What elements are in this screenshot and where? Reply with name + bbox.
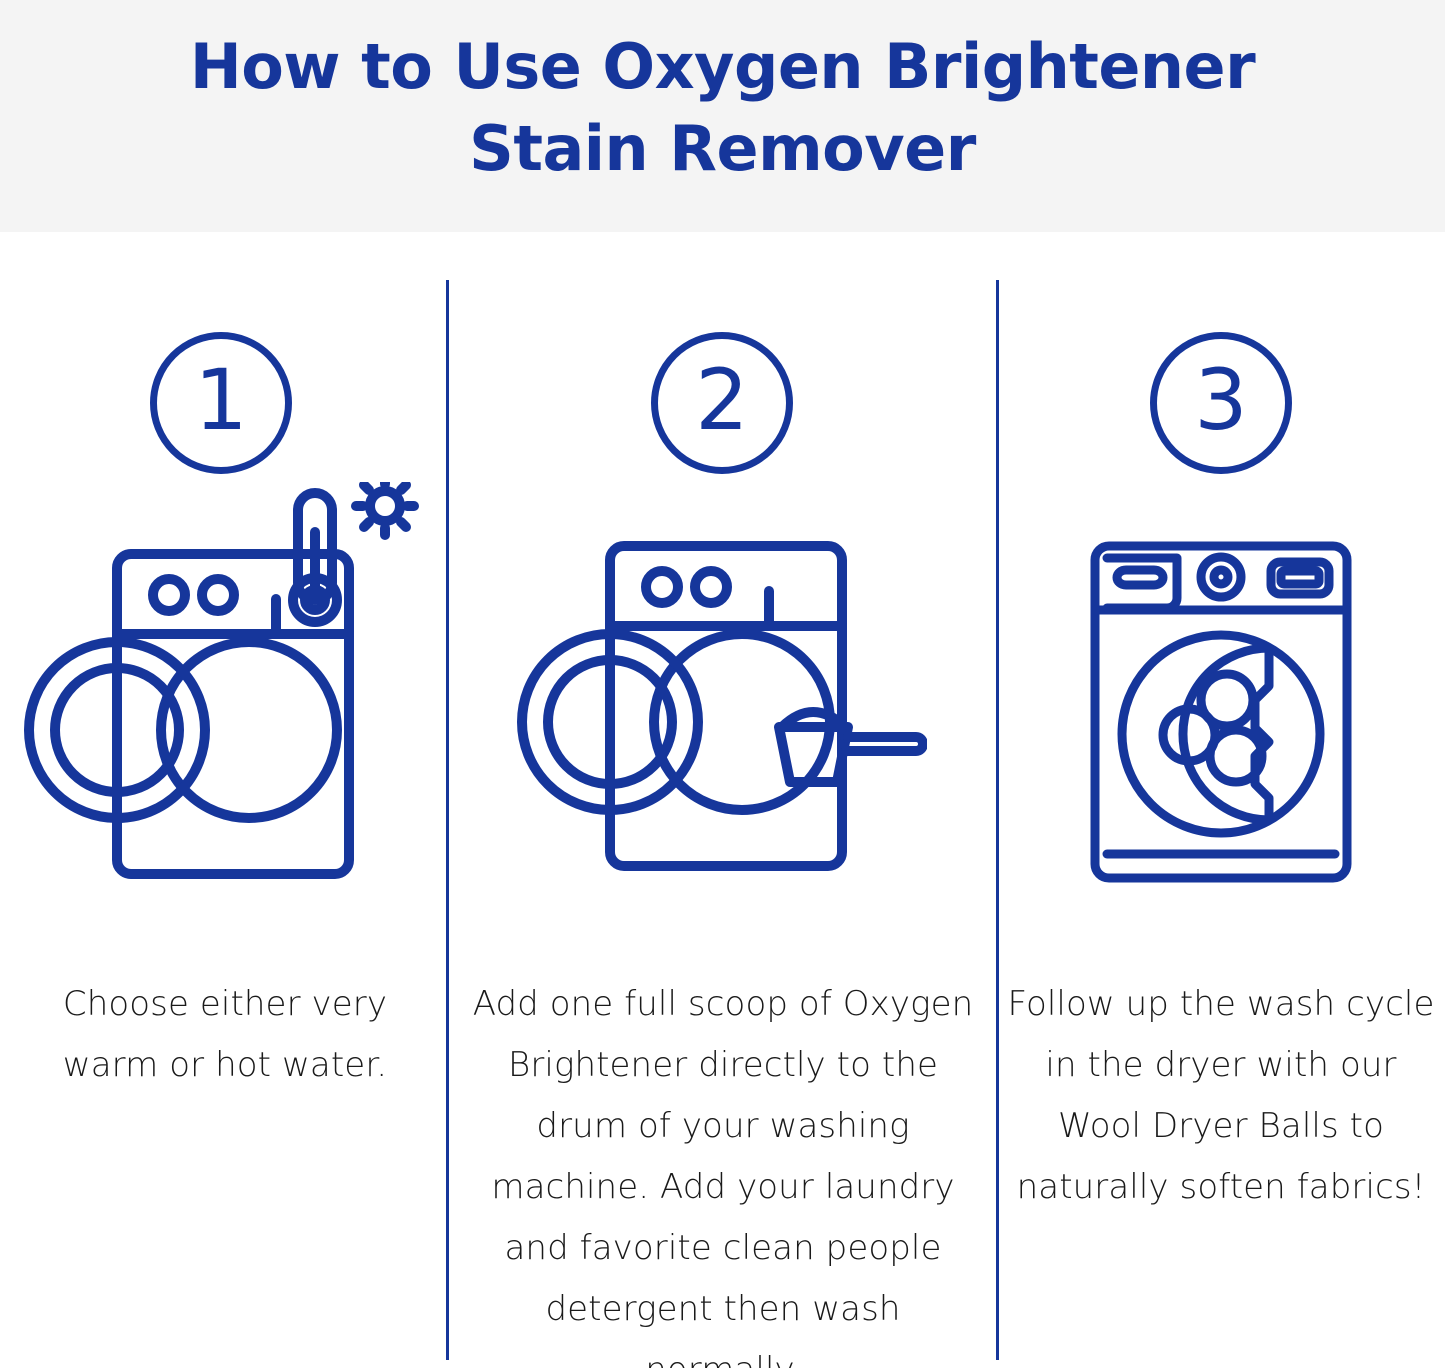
step-number-2: 2 [651,332,793,474]
infographic-root: How to Use Oxygen Brightener Stain Remov… [0,0,1445,1368]
step-number-3: 3 [1150,332,1292,474]
step-column-2: 2 [447,232,997,1368]
step-number-1: 1 [150,332,292,474]
step-badge-2: 2 [651,332,793,474]
washing-machine-with-thermometer-and-sun-icon [14,482,424,907]
step-caption-1: Choose either very warm or hot water. [34,974,416,1096]
page-title: How to Use Oxygen Brightener Stain Remov… [0,26,1445,190]
washing-machine-with-detergent-scoop-icon [507,532,927,907]
step-column-1: 1 [0,232,447,1368]
step-caption-3: Follow up the wash cycle in the dryer wi… [1007,974,1435,1218]
front-load-dryer-with-wool-dryer-balls-icon [1081,532,1361,897]
step-badge-3: 3 [1150,332,1292,474]
steps-container: 1 [0,232,1445,1368]
step-caption-2: Add one full scoop of Oxygen Brightener … [469,974,977,1368]
step-column-3: 3 [997,232,1445,1368]
step-badge-1: 1 [150,332,292,474]
